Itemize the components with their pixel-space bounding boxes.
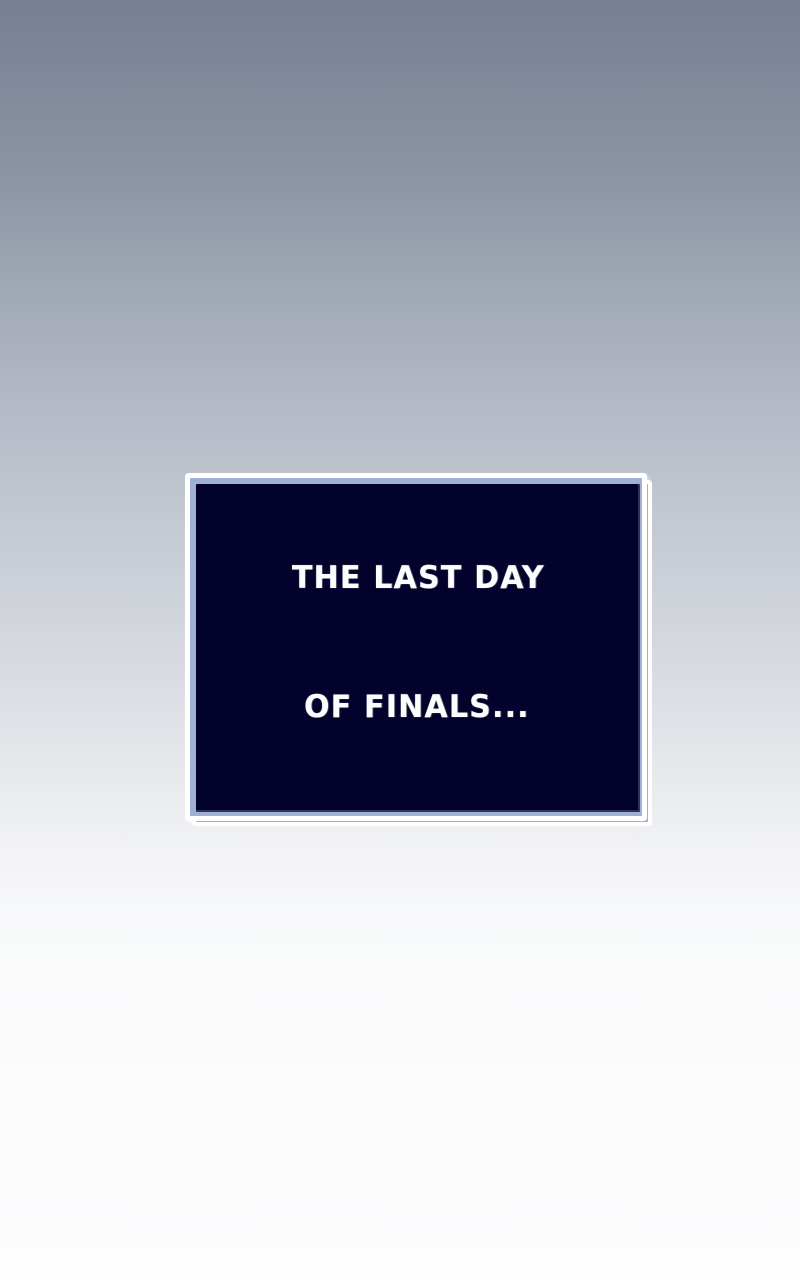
comic-scene: THE LAST DAY OF FINALS... [0, 0, 800, 1280]
caption-line-1: THE LAST DAY [292, 557, 545, 600]
panel-inner-frame: THE LAST DAY OF FINALS... [190, 478, 642, 816]
caption-panel: THE LAST DAY OF FINALS... [186, 474, 652, 826]
caption-text-block: THE LAST DAY OF FINALS... [290, 472, 545, 814]
panel-body: THE LAST DAY OF FINALS... [196, 484, 640, 812]
caption-line-2: OF FINALS... [289, 686, 545, 729]
